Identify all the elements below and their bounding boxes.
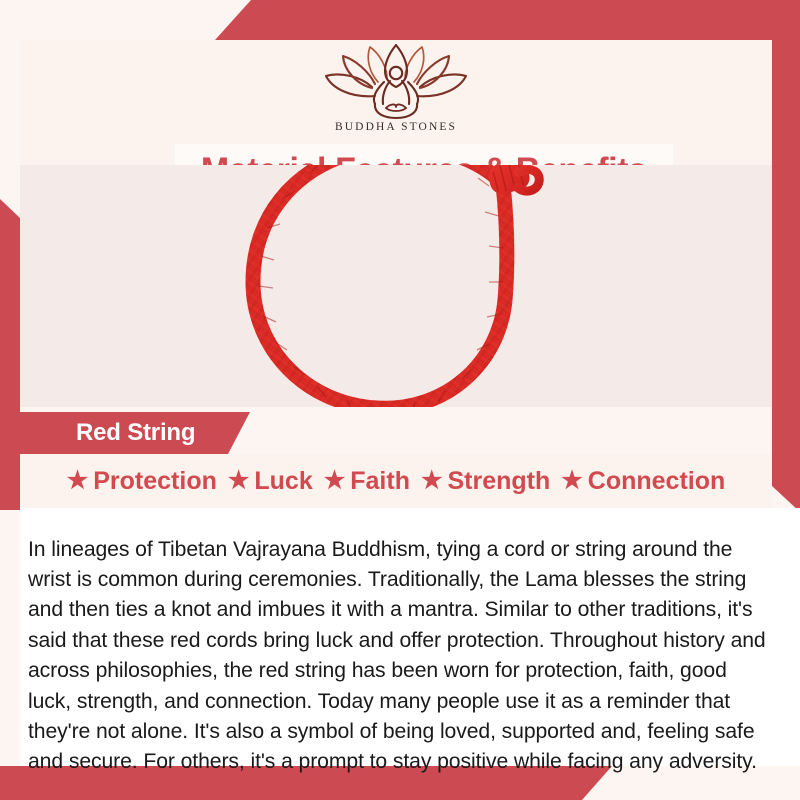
product-image-panel: [20, 165, 772, 407]
benefit-label: Luck: [254, 467, 312, 496]
benefit-label: Connection: [588, 467, 726, 496]
decor-top-red-band: [215, 0, 800, 40]
product-label: Red String: [76, 419, 195, 447]
description-panel: In lineages of Tibetan Vajrayana Buddhis…: [20, 508, 800, 766]
brand-header: BUDDHA STONES Material Features & Benefi…: [20, 40, 772, 165]
star-icon: ★: [421, 469, 443, 493]
brand-logo: BUDDHA STONES: [20, 42, 772, 133]
benefit-label: Faith: [350, 467, 410, 496]
star-icon: ★: [561, 469, 583, 493]
star-icon: ★: [324, 469, 346, 493]
star-icon: ★: [67, 469, 89, 493]
lotus-meditation-icon: [312, 42, 480, 120]
benefit-label: Strength: [447, 467, 550, 496]
product-label-banner: Red String: [20, 412, 250, 454]
description-text: In lineages of Tibetan Vajrayana Buddhis…: [28, 534, 767, 777]
benefit-item-luck: ★ Luck: [228, 467, 313, 496]
infographic-page: BUDDHA STONES Material Features & Benefi…: [0, 0, 800, 800]
benefit-item-protection: ★ Protection: [67, 467, 217, 496]
star-icon: ★: [228, 469, 250, 493]
brand-name: BUDDHA STONES: [335, 121, 457, 133]
benefit-item-connection: ★ Connection: [561, 467, 725, 496]
benefits-row: ★ Protection ★ Luck ★ Faith ★ Strength ★…: [20, 454, 772, 508]
decor-right-red-strip: [772, 0, 800, 512]
decor-left-red-strip: [0, 199, 20, 510]
benefit-label: Protection: [93, 467, 217, 496]
benefit-item-faith: ★ Faith: [324, 467, 410, 496]
benefit-item-strength: ★ Strength: [421, 467, 550, 496]
